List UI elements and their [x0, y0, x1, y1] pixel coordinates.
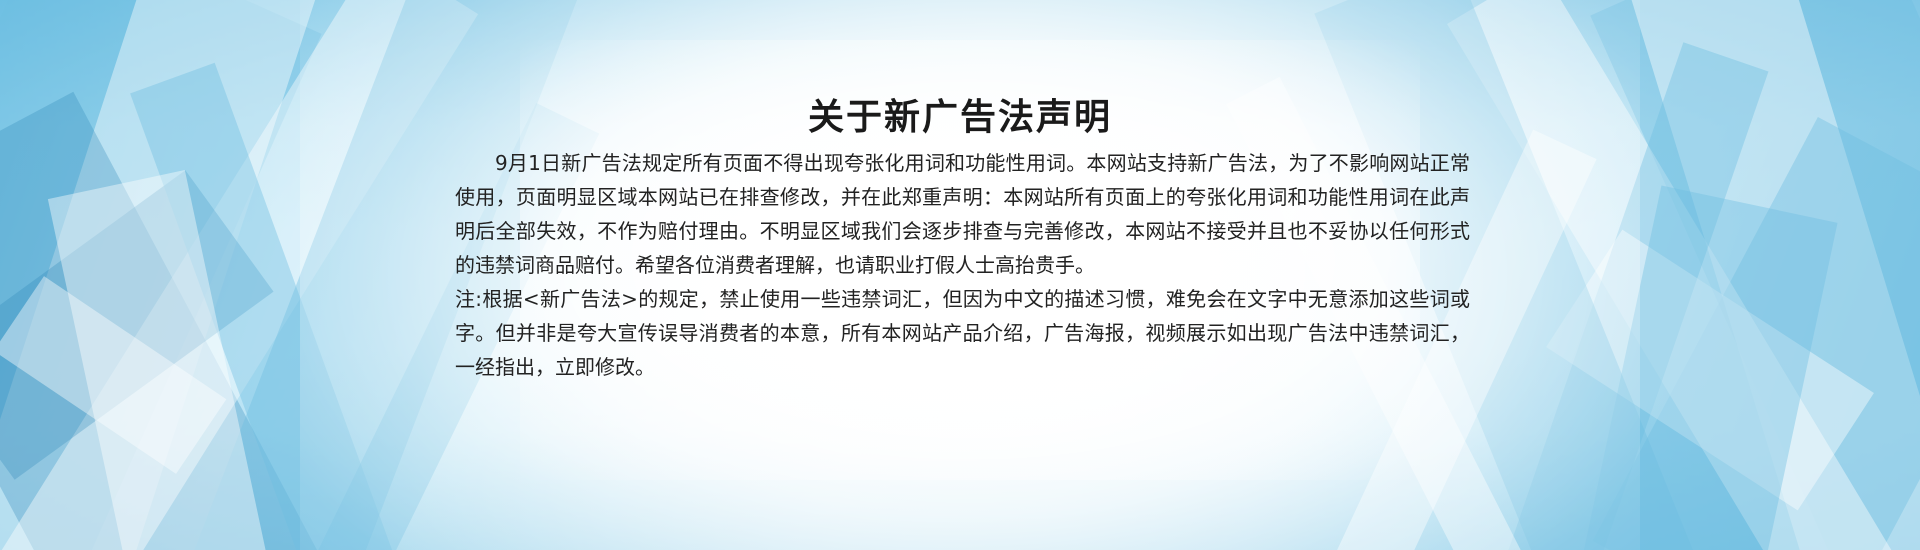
page-title: 关于新广告法声明	[0, 88, 1920, 140]
statement-content: 关于新广告法声明 9月1日新广告法规定所有页面不得出现夸张化用词和功能性用词。本…	[0, 0, 1920, 550]
statement-paragraph-2: 注:根据<新广告法>的规定，禁止使用一些违禁词汇，但因为中文的描述习惯，难免会在…	[455, 282, 1470, 384]
statement-body: 9月1日新广告法规定所有页面不得出现夸张化用词和功能性用词。本网站支持新广告法，…	[455, 146, 1470, 384]
statement-paragraph-1: 9月1日新广告法规定所有页面不得出现夸张化用词和功能性用词。本网站支持新广告法，…	[455, 146, 1470, 282]
advertising-law-statement-banner: 关于新广告法声明 9月1日新广告法规定所有页面不得出现夸张化用词和功能性用词。本…	[0, 0, 1920, 550]
